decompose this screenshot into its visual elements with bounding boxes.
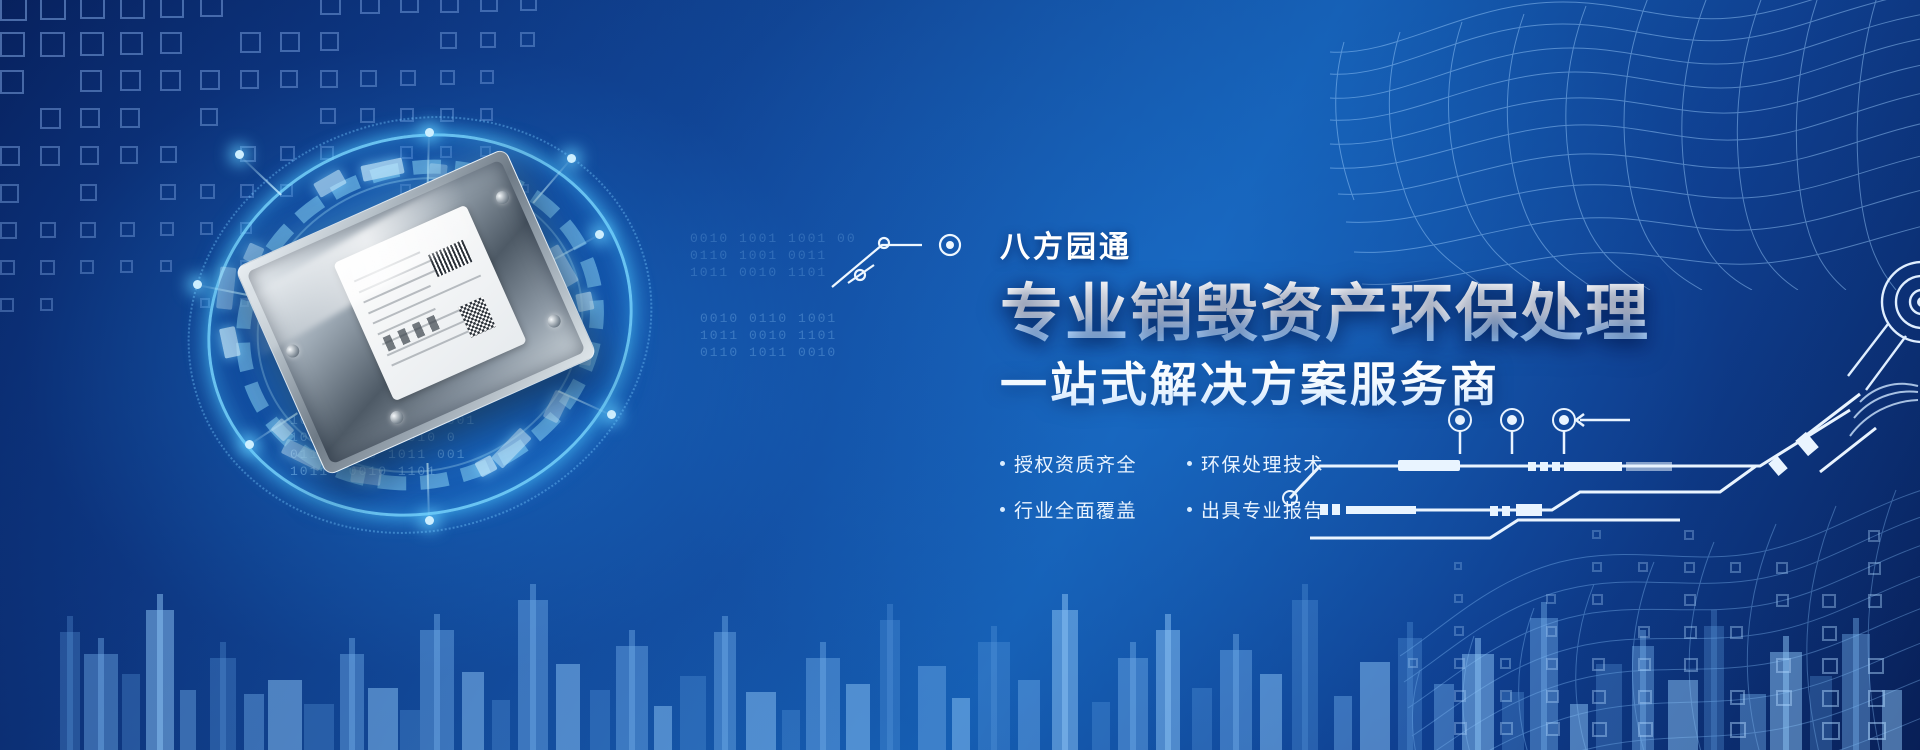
pixel-square bbox=[1684, 594, 1696, 606]
bullet-dot-icon bbox=[1000, 461, 1005, 466]
bullet-dot-icon bbox=[1187, 461, 1192, 466]
screw-icon bbox=[284, 342, 301, 359]
promo-banner: 1011 0010 1001 1001 1010 1011 0010 0 011… bbox=[0, 0, 1920, 750]
skyline-building-spire bbox=[157, 594, 163, 750]
skyline-building bbox=[1260, 674, 1282, 750]
right-edge-dial-icon bbox=[1826, 250, 1920, 410]
feature-label: 环保处理技术 bbox=[1201, 450, 1324, 477]
pixel-square bbox=[1638, 562, 1648, 572]
pixel-square bbox=[1868, 562, 1881, 575]
pixel-square bbox=[1776, 594, 1789, 607]
pixel-square bbox=[1454, 562, 1462, 570]
pixel-square bbox=[1730, 562, 1741, 573]
skyline-building bbox=[368, 688, 398, 750]
pixel-square bbox=[1408, 658, 1418, 668]
pixel-square bbox=[1454, 626, 1464, 636]
feature-item-2: 环保处理技术 bbox=[1187, 450, 1800, 477]
skyline-building bbox=[492, 700, 510, 750]
skyline-building bbox=[304, 704, 334, 750]
skyline-building bbox=[1018, 680, 1040, 750]
skyline-building-spire bbox=[629, 630, 635, 750]
pixel-square bbox=[1776, 690, 1792, 706]
pixel-square bbox=[1638, 690, 1652, 704]
skyline-building-spire bbox=[1062, 594, 1068, 750]
skyline-building bbox=[782, 710, 800, 750]
skyline-building bbox=[1334, 696, 1352, 750]
banner-copy: 八方园通 专业销毁资产环保处理 一站式解决方案服务商 授权资质齐全 环保处理技术… bbox=[1000, 222, 1800, 523]
skyline-building-spire bbox=[820, 642, 826, 750]
pixel-square bbox=[1684, 562, 1695, 573]
pixel-square bbox=[1684, 530, 1694, 540]
skyline-building-spire bbox=[1302, 584, 1308, 750]
pixel-square bbox=[1592, 562, 1602, 572]
feature-label: 授权资质齐全 bbox=[1014, 450, 1137, 477]
skyline-building bbox=[918, 666, 946, 750]
feature-item-3: 行业全面覆盖 bbox=[1000, 496, 1165, 523]
pixel-square bbox=[1822, 722, 1840, 740]
skyline-building bbox=[680, 676, 706, 750]
pixel-square bbox=[1454, 658, 1465, 669]
pixel-square bbox=[1822, 658, 1838, 674]
pixel-square bbox=[1638, 722, 1653, 737]
feature-item-4: 出具专业报告 bbox=[1187, 496, 1800, 523]
screw-icon bbox=[388, 409, 405, 426]
pixel-square bbox=[1592, 594, 1603, 605]
pixel-square bbox=[1868, 690, 1885, 707]
pixel-square bbox=[1868, 722, 1886, 740]
feature-label: 出具专业报告 bbox=[1201, 496, 1324, 523]
pixel-square bbox=[1454, 722, 1467, 735]
skyline-building-spire bbox=[1130, 642, 1136, 750]
pixel-square bbox=[1454, 594, 1463, 603]
skyline-building bbox=[268, 680, 302, 750]
pixel-square bbox=[1546, 722, 1560, 736]
skyline-building-spire bbox=[530, 584, 536, 750]
skyline-building-spire bbox=[98, 638, 104, 750]
pixel-square bbox=[1546, 690, 1559, 703]
pixel-square bbox=[1730, 626, 1743, 639]
skyline-building-spire bbox=[1233, 634, 1239, 750]
pixel-square bbox=[1776, 658, 1791, 673]
pixel-square bbox=[1592, 658, 1605, 671]
pixel-square bbox=[1776, 562, 1788, 574]
skyline-building bbox=[952, 698, 970, 750]
skyline-building bbox=[654, 706, 672, 750]
skyline-building bbox=[846, 684, 870, 750]
screw-icon bbox=[546, 313, 563, 330]
skyline-building bbox=[122, 674, 140, 750]
pixel-square bbox=[1500, 658, 1511, 669]
pixel-square bbox=[1454, 690, 1466, 702]
skyline-building bbox=[1092, 702, 1110, 750]
pixel-square bbox=[1868, 530, 1880, 542]
pixel-square bbox=[1638, 658, 1651, 671]
skyline-building bbox=[244, 694, 264, 750]
pixel-square bbox=[1592, 530, 1601, 539]
connector-line-icon bbox=[830, 225, 990, 290]
feature-item-1: 授权资质齐全 bbox=[1000, 450, 1165, 477]
bullet-dot-icon bbox=[1187, 507, 1192, 512]
subheadline: 一站式解决方案服务商 bbox=[1000, 358, 1800, 412]
pixel-square bbox=[1546, 658, 1558, 670]
binary-decoration-ring: 0010 0110 1001 1011 0010 1101 0110 1011 … bbox=[700, 310, 837, 361]
skyline-building bbox=[590, 690, 610, 750]
pixel-square bbox=[1500, 690, 1512, 702]
headline: 专业销毁资产环保处理 bbox=[1000, 280, 1800, 348]
skyline-building-spire bbox=[722, 616, 728, 750]
skyline-building bbox=[180, 690, 196, 750]
brand-name: 八方园通 bbox=[1000, 222, 1800, 266]
skyline-building-spire bbox=[67, 616, 73, 750]
pixel-square bbox=[1546, 626, 1557, 637]
skyline-building bbox=[462, 672, 484, 750]
pixel-grid-decoration bbox=[1400, 520, 1920, 750]
skyline-building-spire bbox=[349, 638, 355, 750]
pixel-square bbox=[1638, 626, 1650, 638]
skyline-building-spire bbox=[1165, 614, 1171, 750]
skyline-building-spire bbox=[220, 642, 226, 750]
pixel-square bbox=[1868, 594, 1882, 608]
skyline-building bbox=[400, 710, 420, 750]
skyline-building-spire bbox=[434, 614, 440, 750]
skyline-building-spire bbox=[887, 604, 893, 750]
pixel-square bbox=[1730, 722, 1746, 738]
pixel-square bbox=[1822, 626, 1837, 641]
pixel-square bbox=[1684, 658, 1698, 672]
pixel-square bbox=[1684, 626, 1697, 639]
skyline-building bbox=[1192, 688, 1212, 750]
pixel-square bbox=[1730, 690, 1745, 705]
feature-list: 授权资质齐全 环保处理技术 行业全面覆盖 出具专业报告 bbox=[1000, 450, 1800, 523]
pixel-square bbox=[1822, 594, 1836, 608]
bullet-dot-icon bbox=[1000, 507, 1005, 512]
pixel-square bbox=[1500, 722, 1513, 735]
pixel-square bbox=[1592, 690, 1606, 704]
pixel-square bbox=[1546, 594, 1556, 604]
pixel-square bbox=[1822, 690, 1839, 707]
skyline-building bbox=[1360, 662, 1390, 750]
skyline-building-spire bbox=[991, 626, 997, 750]
skyline-building bbox=[746, 692, 776, 750]
skyline-building bbox=[556, 664, 580, 750]
pixel-square bbox=[1868, 658, 1884, 674]
feature-label: 行业全面覆盖 bbox=[1014, 496, 1137, 523]
pixel-square bbox=[1592, 722, 1607, 737]
